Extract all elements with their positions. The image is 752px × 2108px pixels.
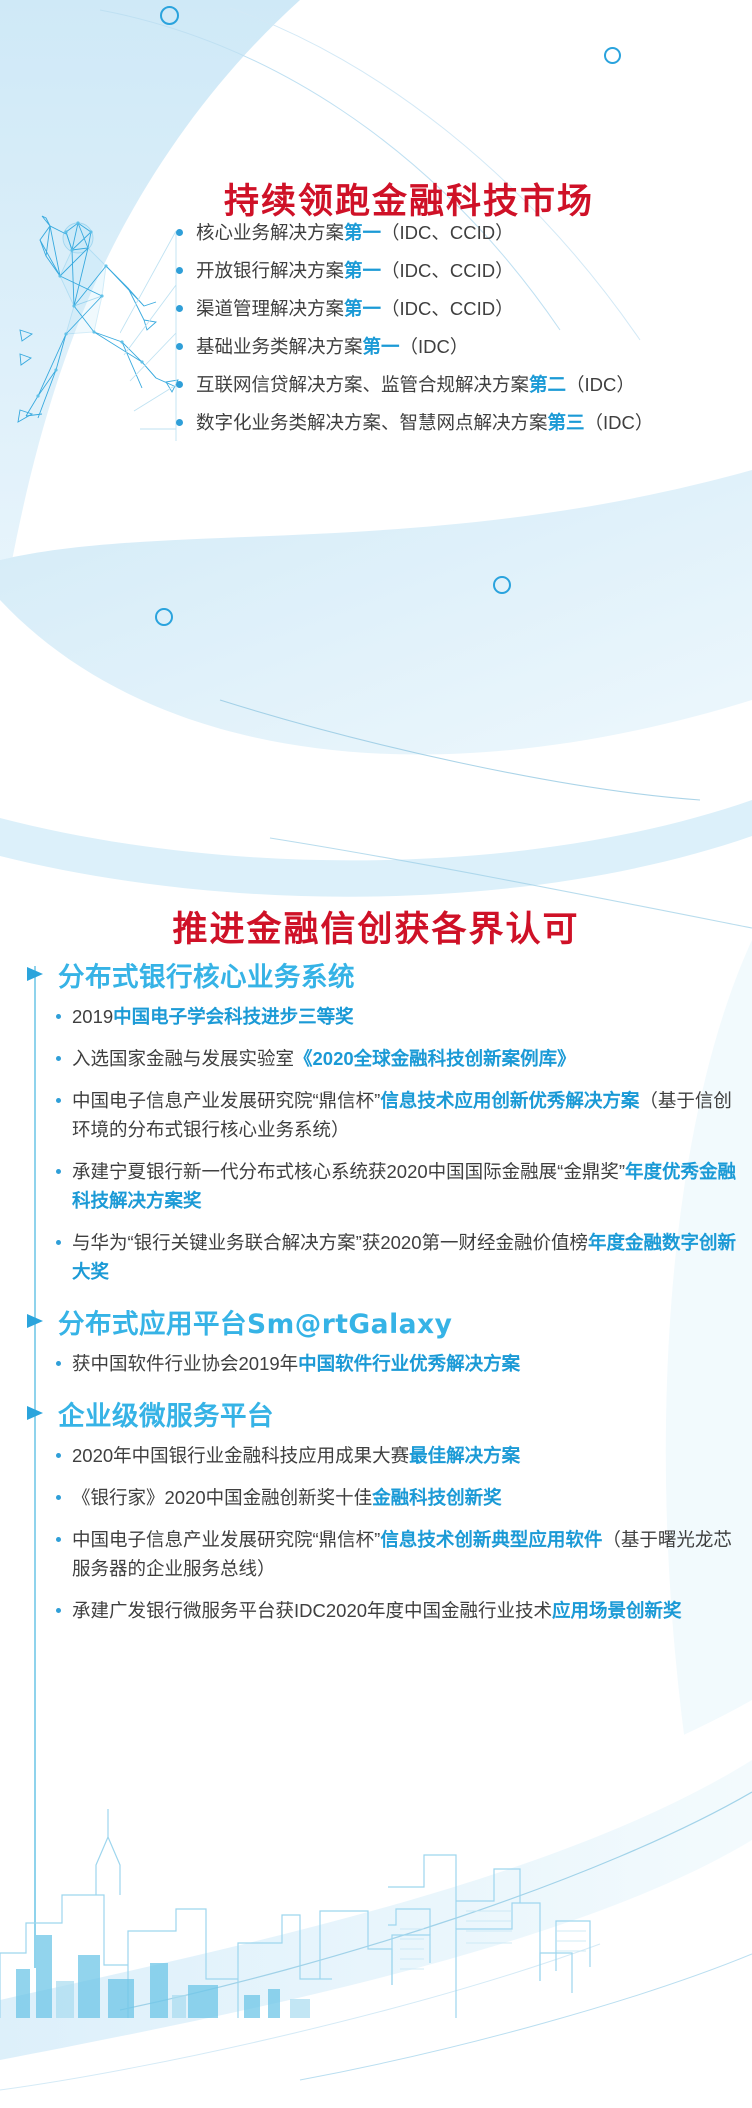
award-item: 承建宁夏银行新一代分布式核心系统获2020中国国际金融展“金鼎奖”年度优秀金融科…: [56, 1157, 738, 1215]
rank-badge: 第一: [344, 260, 381, 281]
award-name: 应用场景创新奖: [552, 1600, 682, 1621]
award-item: 《银行家》2020中国金融创新奖十佳金融科技创新奖: [56, 1483, 738, 1512]
award-name: 信息技术创新典型应用软件: [380, 1529, 602, 1550]
award-context: 中国电子信息产业发展研究院“鼎信杯”: [72, 1090, 380, 1111]
arrow-marker-icon: [27, 1314, 43, 1328]
award-context: 获中国软件行业协会2019年: [72, 1353, 298, 1374]
award-item: 2020年中国银行业金融科技应用成果大赛最佳解决方案: [56, 1441, 738, 1470]
rank-item-source: （IDC）: [566, 374, 635, 395]
award-item: 中国电子信息产业发展研究院“鼎信杯”信息技术创新典型应用软件（基于曙光龙芯服务器…: [56, 1525, 738, 1583]
bullet-dot-icon: [56, 1098, 61, 1103]
award-group-header: 分布式应用平台Sm@rtGalaxy: [0, 1299, 752, 1343]
panel1-rank-list: 核心业务解决方案第一（IDC、CCID）开放银行解决方案第一（IDC、CCID）…: [176, 216, 732, 444]
award-list: 2019中国电子学会科技进步三等奖入选国家金融与发展实验室《2020全球金融科技…: [0, 996, 752, 1286]
award-item-text: 入选国家金融与发展实验室《2020全球金融科技创新案例库》: [72, 1044, 738, 1073]
award-context: 2020年中国银行业金融科技应用成果大赛: [72, 1445, 409, 1466]
award-name: 中国软件行业优秀解决方案: [298, 1353, 520, 1374]
arrow-marker-icon: [27, 1406, 43, 1420]
rank-item-digital-business: 数字化业务类解决方案、智慧网点解决方案第三（IDC）: [176, 406, 732, 439]
award-item-text: 与华为“银行关键业务联合解决方案”获2020第一财经金融价值榜年度金融数字创新大…: [72, 1228, 738, 1286]
rank-item-internet-credit: 互联网信贷解决方案、监管合规解决方案第二（IDC）: [176, 368, 732, 401]
award-group-header: 分布式银行核心业务系统: [0, 952, 752, 996]
rank-item-source: （IDC、CCID）: [381, 298, 514, 319]
section-market-leadership: 持续领跑金融科技市场 核心业务解决方案第一（IDC、CCID）开放银行解决方案第…: [0, 0, 752, 860]
section-fintech-recognition: 推进金融信创获各界认可 分布式银行核心业务系统2019中国电子学会科技进步三等奖…: [0, 860, 752, 2108]
rank-item-subject: 基础业务类解决方案: [196, 336, 363, 357]
award-context: 中国电子信息产业发展研究院“鼎信杯”: [72, 1529, 380, 1550]
award-item-text: 承建广发银行微服务平台获IDC2020年度中国金融行业技术应用场景创新奖: [72, 1596, 738, 1625]
award-context: 承建宁夏银行新一代分布式核心系统获2020中国国际金融展“金鼎奖”: [72, 1161, 625, 1182]
rank-item-text: 核心业务解决方案第一（IDC、CCID）: [196, 216, 732, 249]
rank-item-text: 开放银行解决方案第一（IDC、CCID）: [196, 254, 732, 287]
award-list: 获中国软件行业协会2019年中国软件行业优秀解决方案: [0, 1343, 752, 1378]
rank-item-text: 渠道管理解决方案第一（IDC、CCID）: [196, 292, 732, 325]
rank-item-channel-mgmt: 渠道管理解决方案第一（IDC、CCID）: [176, 292, 732, 325]
rank-item-text: 互联网信贷解决方案、监管合规解决方案第二（IDC）: [196, 368, 732, 401]
award-item: 与华为“银行关键业务联合解决方案”获2020第一财经金融价值榜年度金融数字创新大…: [56, 1228, 738, 1286]
award-group-title: 企业级微服务平台: [58, 1394, 274, 1433]
rank-item-subject: 开放银行解决方案: [196, 260, 344, 281]
bullet-dot-icon: [56, 1361, 61, 1366]
rank-item-source: （IDC、CCID）: [381, 222, 514, 243]
award-item-text: 中国电子信息产业发展研究院“鼎信杯”信息技术创新典型应用软件（基于曙光龙芯服务器…: [72, 1525, 738, 1583]
bullet-dot-icon: [56, 1537, 61, 1542]
infographic-page: 持续领跑金融科技市场 核心业务解决方案第一（IDC、CCID）开放银行解决方案第…: [0, 0, 752, 2108]
award-context: 2019: [72, 1006, 113, 1027]
award-name: 中国电子学会科技进步三等奖: [113, 1006, 354, 1027]
rank-item-text: 基础业务类解决方案第一（IDC）: [196, 330, 732, 363]
rank-item-basic-business: 基础业务类解决方案第一（IDC）: [176, 330, 732, 363]
award-name: 最佳解决方案: [409, 1445, 520, 1466]
rank-item-subject: 核心业务解决方案: [196, 222, 344, 243]
award-item-text: 2019中国电子学会科技进步三等奖: [72, 1002, 738, 1031]
arrow-marker-icon: [27, 967, 43, 981]
bullet-dot-icon: [176, 381, 183, 388]
rank-item-source: （IDC、CCID）: [381, 260, 514, 281]
award-name: 信息技术应用创新优秀解决方案: [380, 1090, 639, 1111]
rank-item-source: （IDC）: [585, 412, 654, 433]
award-context: 《银行家》2020中国金融创新奖十佳: [72, 1487, 372, 1508]
award-item: 中国电子信息产业发展研究院“鼎信杯”信息技术应用创新优秀解决方案（基于信创环境的…: [56, 1086, 738, 1144]
award-list: 2020年中国银行业金融科技应用成果大赛最佳解决方案《银行家》2020中国金融创…: [0, 1435, 752, 1625]
award-context: 承建广发银行微服务平台获IDC2020年度中国金融行业技术: [72, 1600, 552, 1621]
bullet-dot-icon: [56, 1608, 61, 1613]
rank-item-open-bank: 开放银行解决方案第一（IDC、CCID）: [176, 254, 732, 287]
rank-badge: 第二: [529, 374, 566, 395]
rank-item-subject: 数字化业务类解决方案、智慧网点解决方案: [196, 412, 548, 433]
award-group-header: 企业级微服务平台: [0, 1391, 752, 1435]
award-group-title: 分布式应用平台Sm@rtGalaxy: [58, 1302, 452, 1341]
award-context: 与华为“银行关键业务联合解决方案”获2020第一财经金融价值榜: [72, 1232, 588, 1253]
award-context: 入选国家金融与发展实验室: [72, 1048, 294, 1069]
bullet-dot-icon: [176, 343, 183, 350]
award-item: 入选国家金融与发展实验室《2020全球金融科技创新案例库》: [56, 1044, 738, 1073]
award-item: 2019中国电子学会科技进步三等奖: [56, 1002, 738, 1031]
rank-badge: 第一: [344, 222, 381, 243]
award-group-distributed-core-banking: 分布式银行核心业务系统2019中国电子学会科技进步三等奖入选国家金融与发展实验室…: [0, 952, 752, 1286]
city-skyline-icon: [0, 1803, 752, 2018]
bullet-dot-icon: [56, 1453, 61, 1458]
bullet-dot-icon: [176, 267, 183, 274]
panel2-title: 推进金融信创获各界认可: [0, 901, 752, 952]
award-name: 《2020全球金融科技创新案例库》: [294, 1048, 576, 1069]
bullet-dot-icon: [56, 1014, 61, 1019]
award-name: 金融科技创新奖: [372, 1487, 502, 1508]
award-item-text: 2020年中国银行业金融科技应用成果大赛最佳解决方案: [72, 1441, 738, 1470]
rank-item-subject: 渠道管理解决方案: [196, 298, 344, 319]
bullet-dot-icon: [56, 1495, 61, 1500]
panel2-groups: 分布式银行核心业务系统2019中国电子学会科技进步三等奖入选国家金融与发展实验室…: [0, 952, 752, 1638]
award-group-enterprise-microservice-platform: 企业级微服务平台2020年中国银行业金融科技应用成果大赛最佳解决方案《银行家》2…: [0, 1391, 752, 1625]
rank-item-core-business: 核心业务解决方案第一（IDC、CCID）: [176, 216, 732, 249]
rank-badge: 第一: [363, 336, 400, 357]
award-item-text: 获中国软件行业协会2019年中国软件行业优秀解决方案: [72, 1349, 738, 1378]
rank-badge: 第一: [344, 298, 381, 319]
bullet-dot-icon: [56, 1056, 61, 1061]
award-item-text: 中国电子信息产业发展研究院“鼎信杯”信息技术应用创新优秀解决方案（基于信创环境的…: [72, 1086, 738, 1144]
award-item: 获中国软件行业协会2019年中国软件行业优秀解决方案: [56, 1349, 738, 1378]
bullet-dot-icon: [56, 1240, 61, 1245]
rank-item-subject: 互联网信贷解决方案、监管合规解决方案: [196, 374, 529, 395]
award-group-distributed-app-platform: 分布式应用平台Sm@rtGalaxy获中国软件行业协会2019年中国软件行业优秀…: [0, 1299, 752, 1378]
award-item: 承建广发银行微服务平台获IDC2020年度中国金融行业技术应用场景创新奖: [56, 1596, 738, 1625]
bullet-dot-icon: [176, 419, 183, 426]
award-group-title: 分布式银行核心业务系统: [58, 955, 355, 994]
bullet-dot-icon: [176, 305, 183, 312]
award-item-text: 《银行家》2020中国金融创新奖十佳金融科技创新奖: [72, 1483, 738, 1512]
bullet-dot-icon: [56, 1169, 61, 1174]
rank-item-text: 数字化业务类解决方案、智慧网点解决方案第三（IDC）: [196, 406, 732, 439]
rank-badge: 第三: [548, 412, 585, 433]
award-item-text: 承建宁夏银行新一代分布式核心系统获2020中国国际金融展“金鼎奖”年度优秀金融科…: [72, 1157, 738, 1215]
rank-item-source: （IDC）: [400, 336, 469, 357]
bullet-dot-icon: [176, 229, 183, 236]
